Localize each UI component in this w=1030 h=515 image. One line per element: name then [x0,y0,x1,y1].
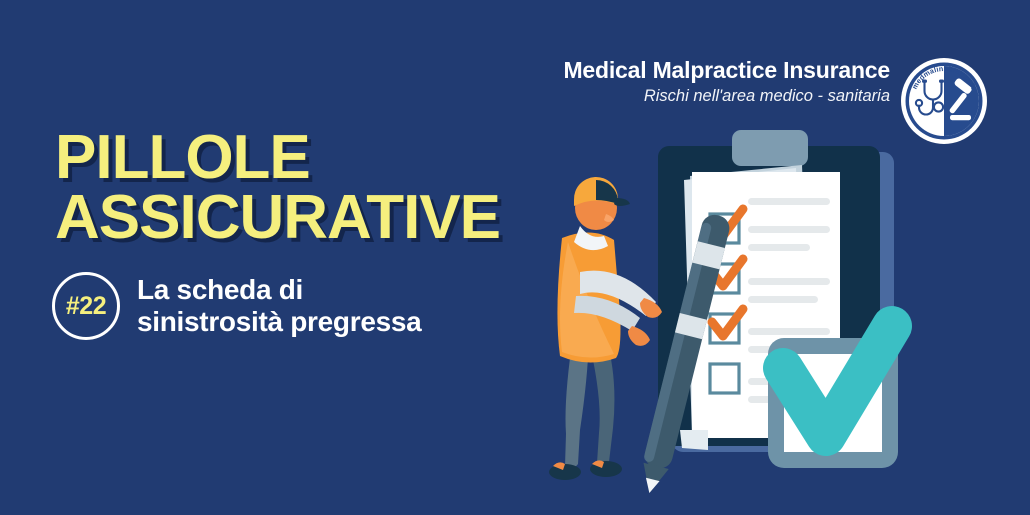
page-title: PILLOLE ASSICURATIVE [55,128,595,247]
episode-number: #22 [66,292,106,321]
social-card: Medical Malpractice Insurance Rischi nel… [0,0,1030,515]
person-front-shoe [549,464,581,480]
clipboard-checklist-illustration [540,130,960,500]
brand-subtitle: Rischi nell'area medico - sanitaria [560,87,890,107]
brand-title: Medical Malpractice Insurance [560,58,890,84]
teal-check-box[interactable] [768,326,898,468]
person-front-leg [565,358,588,468]
episode-title-line-1: La scheda di [137,274,421,306]
headline-line-1: PILLOLE [55,128,595,188]
episode-number-badge: #22 [52,272,120,340]
person-back-leg [592,354,614,465]
paper-edge [680,430,708,450]
episode-row: #22 La scheda di sinistrosità pregressa [52,272,421,340]
person-cap-brim [614,198,630,206]
clipboard-clip [732,130,808,166]
person-figure [549,177,662,480]
brand-header: Medical Malpractice Insurance Rischi nel… [560,58,890,107]
person-hand-lower [628,326,650,346]
episode-title-line-2: sinistrosità pregressa [137,306,421,338]
headline-line-2: ASSICURATIVE [55,188,595,248]
episode-title: La scheda di sinistrosità pregressa [137,274,421,337]
